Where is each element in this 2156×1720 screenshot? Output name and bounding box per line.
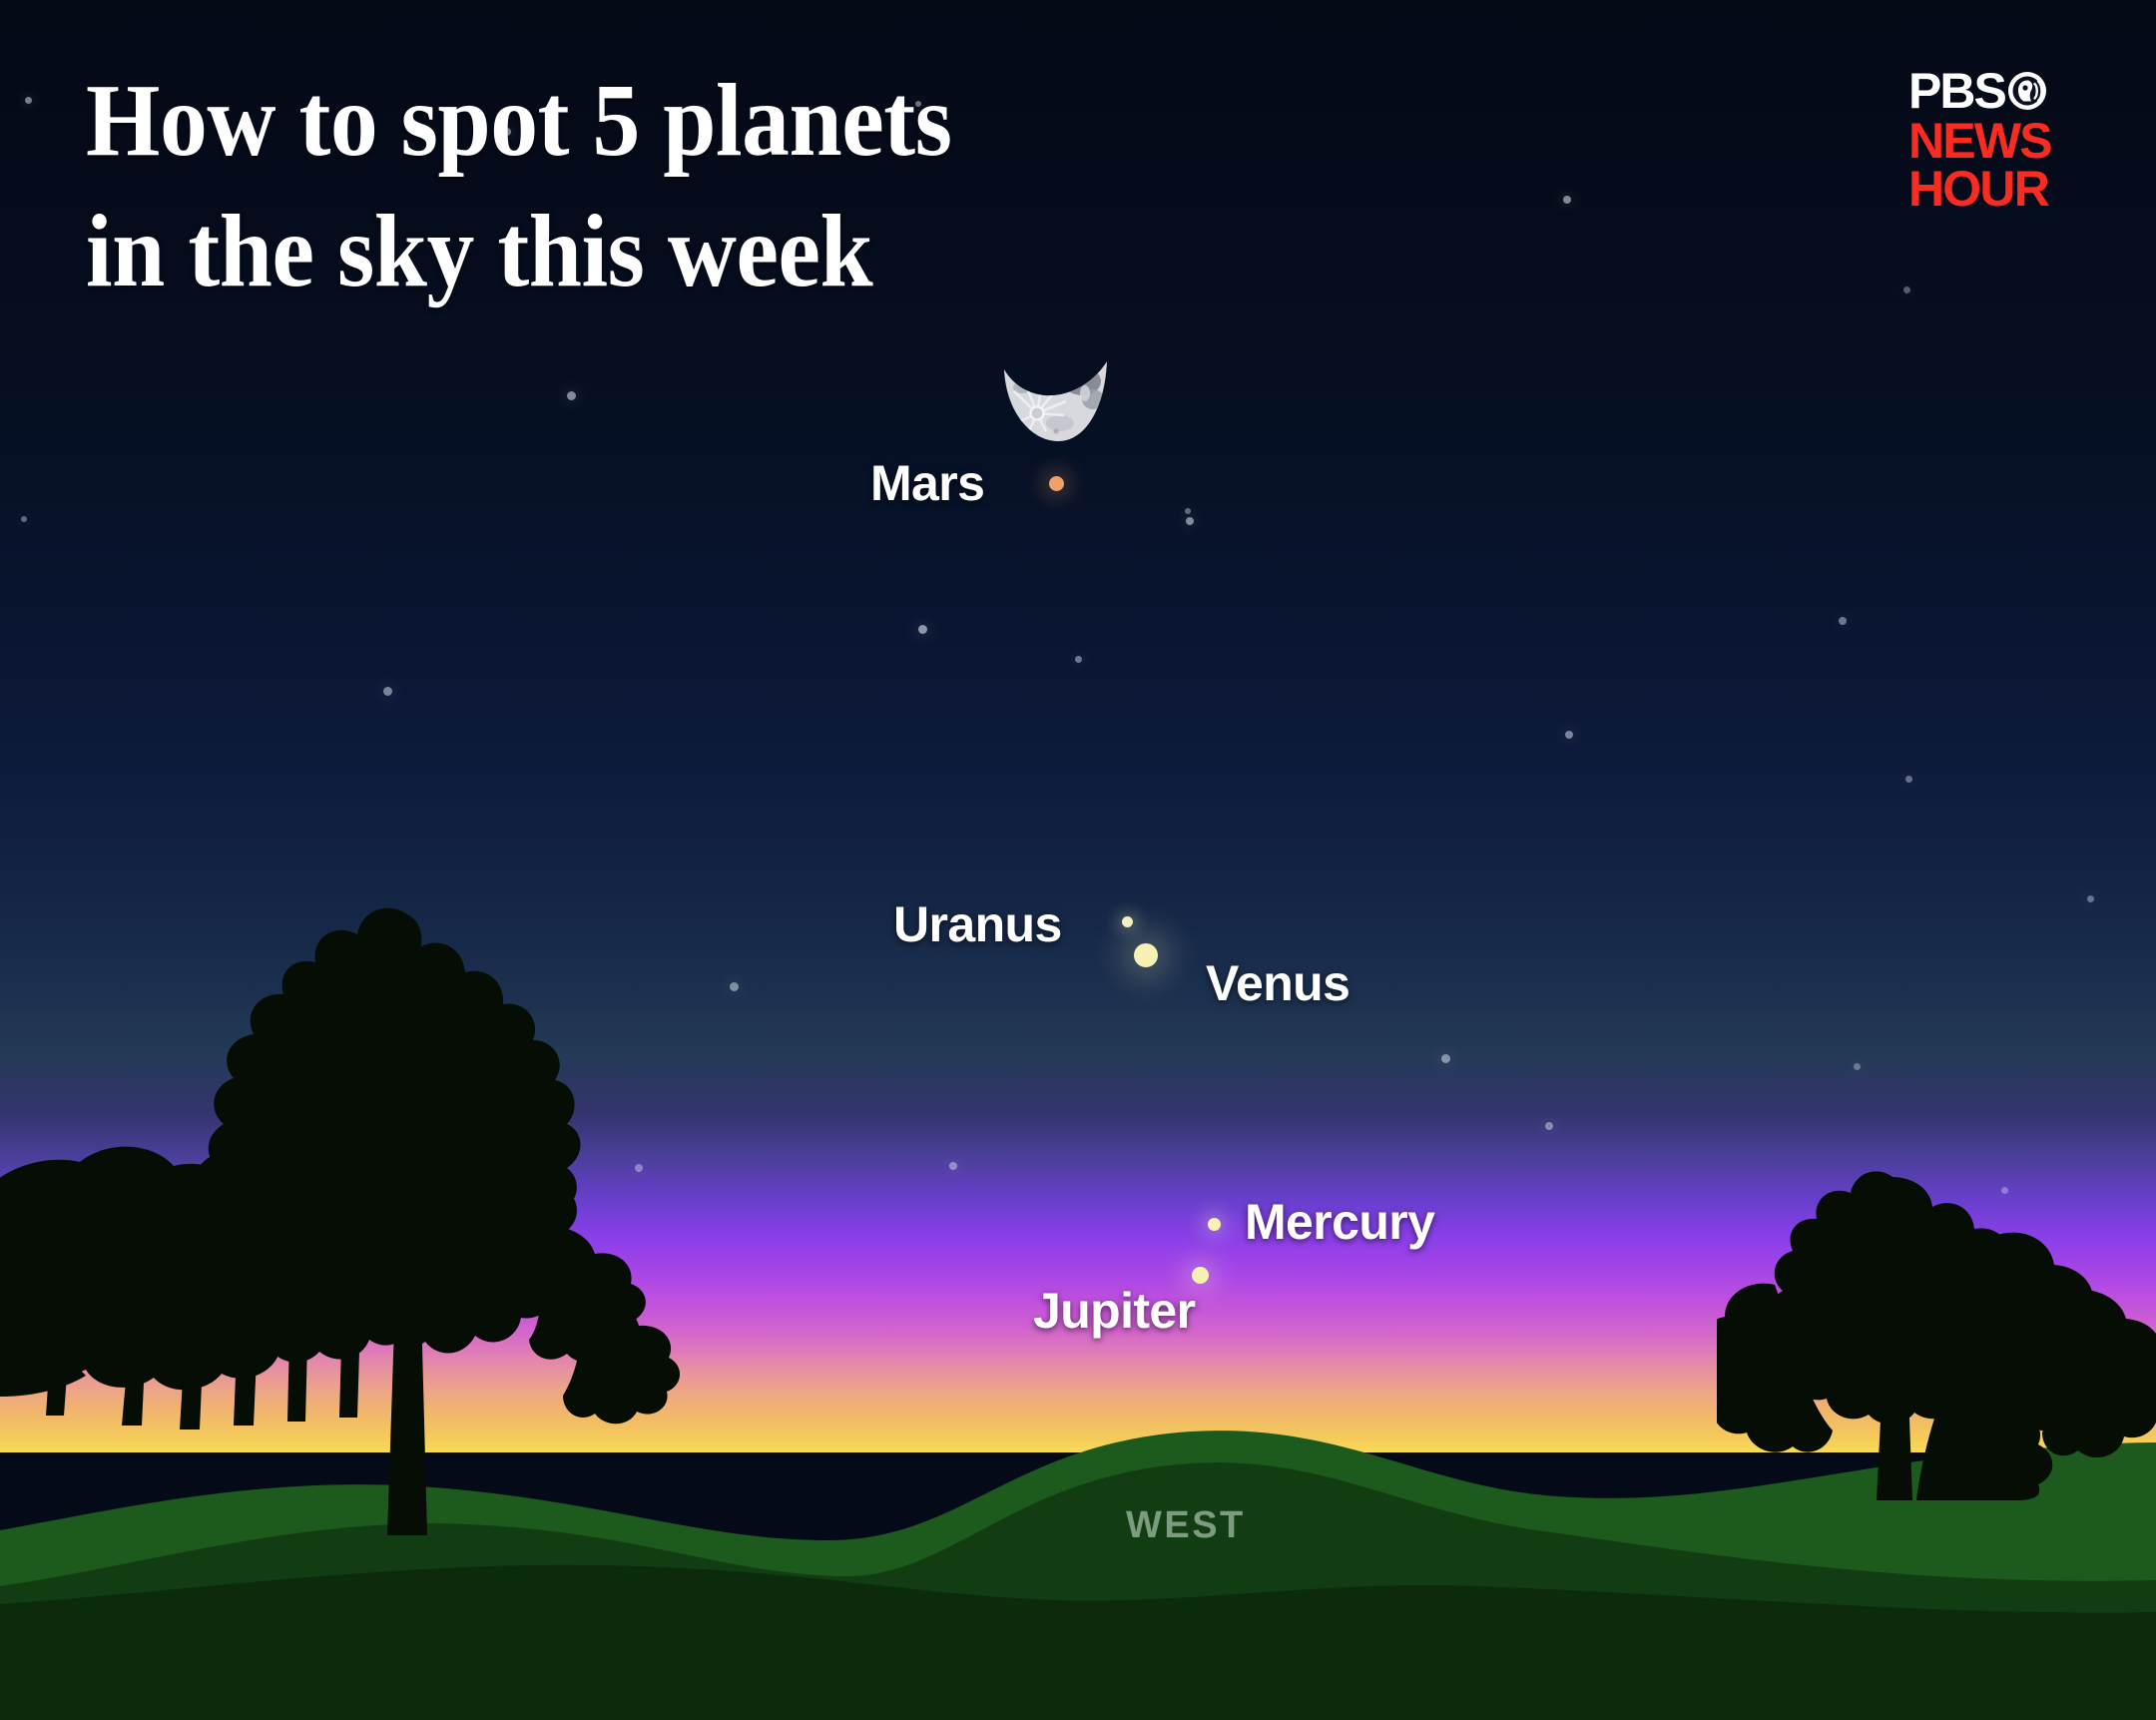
planet-label-uranus: Uranus — [893, 895, 1062, 953]
star — [1186, 517, 1194, 525]
star — [1563, 196, 1571, 204]
tree-silhouette-right — [1717, 1141, 2156, 1505]
star — [918, 625, 927, 634]
page-title-line-1: How to spot 5 planets — [86, 55, 1234, 186]
page-title-line-2: in the sky this week — [86, 186, 1234, 316]
planet-dot-mars — [1049, 476, 1064, 491]
planet-dot-venus — [1134, 943, 1158, 967]
planet-label-venus: Venus — [1206, 954, 1349, 1012]
planet-dot-uranus — [1122, 916, 1133, 927]
logo-text-news: NEWS — [1908, 118, 2072, 165]
logo-text-pbs: PBS — [1908, 68, 2005, 115]
pbs-head-icon — [2007, 71, 2047, 111]
star — [383, 687, 392, 696]
star — [21, 516, 27, 522]
planet-label-mars: Mars — [870, 454, 984, 512]
tree-silhouette-left — [0, 896, 808, 1540]
star — [25, 97, 32, 104]
star — [1441, 1054, 1450, 1063]
star — [1903, 287, 1910, 293]
star — [1839, 617, 1847, 625]
compass-direction-west: WEST — [1126, 1504, 1246, 1547]
page-title: How to spot 5 planets in the sky this we… — [86, 55, 1234, 316]
planet-dot-jupiter — [1192, 1267, 1209, 1284]
star — [949, 1162, 957, 1170]
planet-label-mercury: Mercury — [1245, 1193, 1434, 1251]
star — [1545, 1122, 1553, 1130]
star — [1854, 1063, 1861, 1070]
star — [567, 391, 576, 400]
star — [1185, 508, 1191, 514]
star — [1905, 776, 1912, 783]
pbs-newshour-logo[interactable]: PBS NEWS HOUR — [1908, 68, 2072, 213]
star — [1075, 656, 1082, 663]
planet-dot-mercury — [1208, 1218, 1221, 1231]
planet-label-jupiter: Jupiter — [1033, 1282, 1196, 1340]
crescent-moon-icon — [1000, 357, 1112, 443]
star — [1565, 731, 1573, 739]
sky-chart-graphic: MarsUranusVenusMercuryJupiter WEST How t… — [0, 0, 2156, 1720]
logo-row-pbs: PBS — [1908, 68, 2072, 115]
logo-text-hour: HOUR — [1908, 166, 2072, 213]
star — [2087, 895, 2094, 902]
